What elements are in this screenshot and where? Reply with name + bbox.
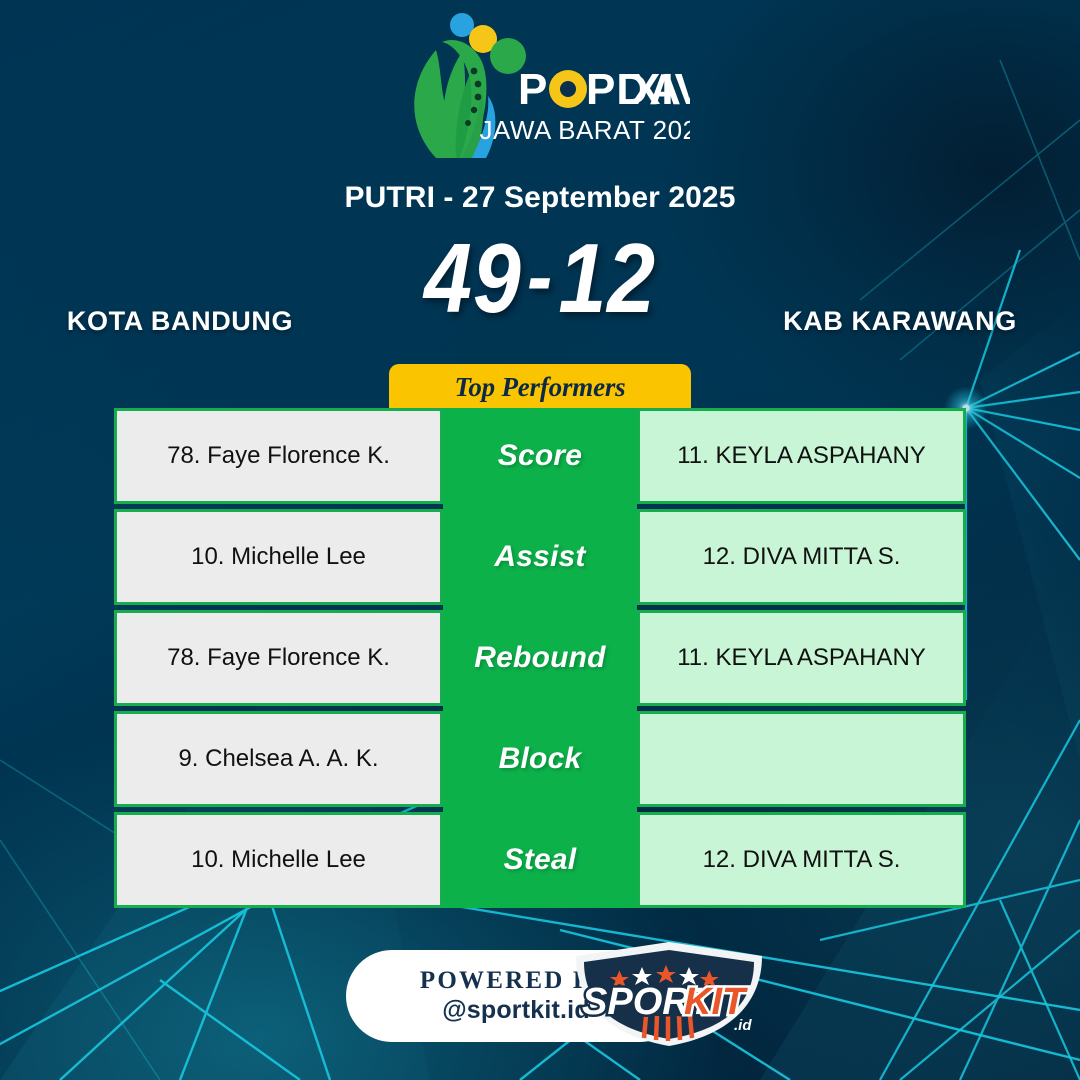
sportkit-wordmark-tld: .id [734, 1017, 752, 1034]
table-row: 9. Chelsea A. A. K.Block [114, 711, 966, 807]
match-date: PUTRI - 27 September 2025 [0, 181, 1080, 215]
event-logo: P PDA XIV JAWA BARAT 2025 [0, 8, 1080, 168]
cell-home-player: 78. Faye Florence K. [114, 610, 443, 706]
svg-text:XIV: XIV [631, 65, 690, 114]
logo-title-popda: P [518, 65, 548, 114]
cell-away-player [637, 711, 966, 807]
logo-subtitle: JAWA BARAT 2025 [480, 115, 690, 145]
cell-stat-label: Assist [443, 509, 637, 605]
score-home: 49 [424, 223, 522, 333]
cell-home-player: 10. Michelle Lee [114, 509, 443, 605]
team-name-away: KAB KARAWANG [720, 306, 1080, 337]
top-performers-label: Top Performers [455, 372, 626, 403]
table-row: 78. Faye Florence K.Rebound11. KEYLA ASP… [114, 610, 966, 706]
cell-away-player: 11. KEYLA ASPAHANY [637, 408, 966, 504]
cell-away-player: 11. KEYLA ASPAHANY [637, 610, 966, 706]
cell-stat-label: Score [443, 408, 637, 504]
cell-stat-label: Block [443, 711, 637, 807]
score-away: 12 [558, 223, 656, 333]
cell-away-player: 12. DIVA MITTA S. [637, 812, 966, 908]
footer: POWERED BY @sportkit.id [0, 940, 1080, 1050]
cell-stat-label: Steal [443, 812, 637, 908]
cell-home-player: 10. Michelle Lee [114, 812, 443, 908]
cell-home-player: 78. Faye Florence K. [114, 408, 443, 504]
table-row: 78. Faye Florence K.Score11. KEYLA ASPAH… [114, 408, 966, 504]
cell-stat-label: Rebound [443, 610, 637, 706]
top-performers-badge: Top Performers [389, 364, 691, 411]
team-name-home: KOTA BANDUNG [0, 306, 360, 337]
sportkit-shield-logo: SPORT KIT .id [566, 940, 772, 1048]
top-performers-table: 78. Faye Florence K.Score11. KEYLA ASPAH… [114, 408, 966, 908]
cell-away-player: 12. DIVA MITTA S. [637, 509, 966, 605]
cell-home-player: 9. Chelsea A. A. K. [114, 711, 443, 807]
table-row: 10. Michelle LeeAssist12. DIVA MITTA S. [114, 509, 966, 605]
popda-logo-icon: P PDA XIV JAWA BARAT 2025 [390, 8, 690, 168]
table-row: 10. Michelle LeeSteal12. DIVA MITTA S. [114, 812, 966, 908]
score-separator: - [522, 229, 559, 325]
